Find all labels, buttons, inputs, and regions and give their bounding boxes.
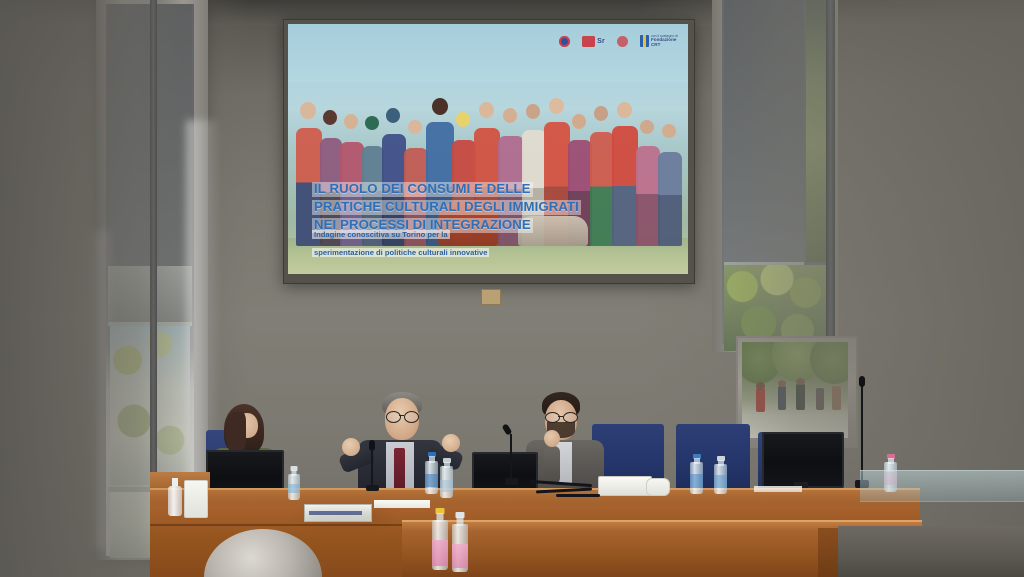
white-container <box>184 480 208 518</box>
ires-square-icon <box>582 36 595 47</box>
circular-emblem-icon <box>559 36 570 47</box>
panelist-right-arm <box>544 446 560 484</box>
pink-label-bottle-1 <box>432 508 448 570</box>
water-bottle-3 <box>440 458 453 498</box>
papers-left <box>374 500 430 508</box>
round-red-logo <box>617 36 628 47</box>
circular-emblem-logo <box>559 36 570 47</box>
floor-strip <box>838 526 1024 577</box>
slide-subtitle-line-1: Indagine conoscitiva su Torino per la <box>312 230 450 239</box>
iresr-logo-label: Sr <box>597 38 605 45</box>
conference-room-photo: Sr con il sostegno di Fondazione CRT IL … <box>0 0 1024 577</box>
glass-rail <box>860 470 1024 502</box>
desk-shadow-1 <box>300 510 390 522</box>
water-bottle-1 <box>288 466 300 500</box>
iresr-logo: Sr <box>582 36 605 47</box>
slide-title-line-2: PRATICHE CULTURALI DEGLI IMMIGRATI <box>312 200 581 215</box>
tissue-box <box>598 476 652 496</box>
water-bottle-2 <box>425 452 438 494</box>
slide-logo-row: Sr con il sostegno di Fondazione CRT <box>559 30 678 52</box>
chair-2 <box>676 424 750 492</box>
fondazione-crt-logo: con il sostegno di Fondazione CRT <box>640 35 678 48</box>
pink-label-bottle-2 <box>452 512 468 572</box>
panelist-center-hand-left <box>342 438 360 456</box>
slide-subtitle-line-2: sperimentazione di politiche culturali i… <box>312 248 489 257</box>
panelist-center-hand-right <box>442 434 460 452</box>
wall-plate <box>481 289 501 305</box>
gooseneck-microphone-center-right <box>504 424 516 486</box>
crt-logo-caption: CRT <box>651 43 678 48</box>
desktop-monitor-right <box>762 432 840 484</box>
papers-right <box>754 486 802 492</box>
crt-bars-icon <box>640 35 649 47</box>
hand-sanitizer-bottle <box>168 478 182 516</box>
panelist-right-hand <box>544 430 560 447</box>
desktop-monitor-center <box>472 452 534 492</box>
presentation-slide: Sr con il sostegno di Fondazione CRT IL … <box>288 24 688 274</box>
projection-screen: Sr con il sostegno di Fondazione CRT IL … <box>288 24 688 274</box>
panelist-center-glasses-icon <box>385 411 419 421</box>
water-bottle-5 <box>714 456 727 494</box>
slide-title-line-1: IL RUOLO DEI CONSUMI E DELLE <box>312 182 533 197</box>
panelist-right-glasses-icon <box>545 412 577 421</box>
white-cup <box>646 478 670 496</box>
gooseneck-microphone-center <box>366 440 378 492</box>
round-red-icon <box>617 36 628 47</box>
water-bottle-4 <box>690 454 703 494</box>
slide-subtitle: Indagine conoscitiva su Torino per la sp… <box>312 224 562 260</box>
